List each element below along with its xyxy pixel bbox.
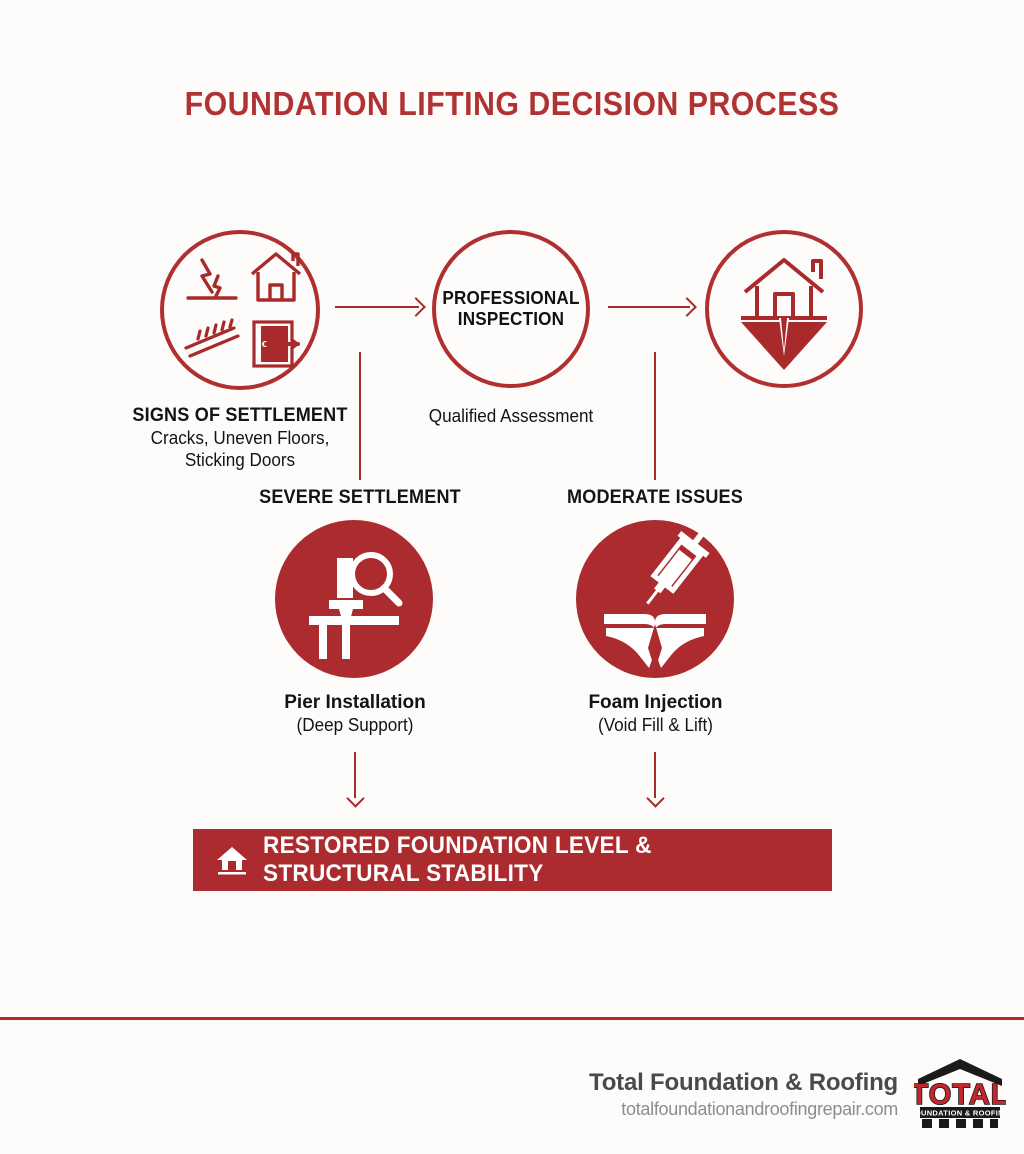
pier-installation-icon [275,520,433,678]
branch-condition-severe: SEVERE SETTLEMENT [240,487,480,509]
inspection-label-line1: PROFESSIONAL [442,288,579,309]
signs-subtext-line1: Cracks, Uneven Floors, [107,427,373,449]
svg-text:FOUNDATION & ROOFING: FOUNDATION & ROOFING [914,1109,1006,1118]
pier-installation-label: Pier Installation (Deep Support) [235,692,475,736]
footer: Total Foundation & Roofing totalfoundati… [589,1055,1006,1134]
arrow-inspection-to-result [608,296,698,318]
footer-divider [0,1017,1024,1020]
professional-inspection-label: PROFESSIONAL INSPECTION [436,230,586,388]
foam-treatment-detail: (Void Fill & Lift) [544,714,767,736]
house-solid-icon [215,845,249,875]
foam-injection-label: Foam Injection (Void Fill & Lift) [538,692,773,736]
signs-of-settlement-label: SIGNS OF SETTLEMENT Cracks, Uneven Floor… [100,405,380,471]
foam-treatment-name: Foam Injection [538,692,773,714]
inspection-label-line2: INSPECTION [442,309,579,330]
severe-settlement-label: SEVERE SETTLEMENT [246,487,474,509]
company-name: Total Foundation & Roofing [589,1069,898,1097]
outcome-banner: RESTORED FOUNDATION LEVEL & STRUCTURAL S… [193,829,832,891]
branch-line-severe [359,352,361,480]
qualified-assessment-label: Qualified Assessment [390,405,632,427]
infographic-canvas: FOUNDATION LIFTING DECISION PROCESS [0,0,1024,1154]
page-title: FOUNDATION LIFTING DECISION PROCESS [41,85,983,123]
outcome-banner-text: RESTORED FOUNDATION LEVEL & STRUCTURAL S… [263,832,798,888]
sinking-house-icon [705,230,863,388]
branch-condition-moderate: MODERATE ISSUES [540,487,770,509]
branch-line-moderate [654,352,656,480]
company-url[interactable]: totalfoundationandroofingrepair.com [589,1097,898,1121]
settlement-signs-icon [160,230,320,390]
arrow-signs-to-inspection [335,296,427,318]
total-foundation-logo: TOTAL FOUNDATION & ROOFING [914,1055,1006,1134]
foam-injection-icon [576,520,734,678]
pier-treatment-name: Pier Installation [235,692,475,714]
svg-text:TOTAL: TOTAL [914,1079,1006,1111]
arrow-pier-to-outcome [347,752,363,810]
signs-heading: SIGNS OF SETTLEMENT [107,405,373,427]
signs-subtext-line2: Sticking Doors [107,449,373,471]
inspection-caption: Qualified Assessment [396,405,626,427]
pier-treatment-detail: (Deep Support) [241,714,469,736]
arrow-foam-to-outcome [647,752,663,810]
moderate-issues-label: MODERATE ISSUES [546,487,765,509]
